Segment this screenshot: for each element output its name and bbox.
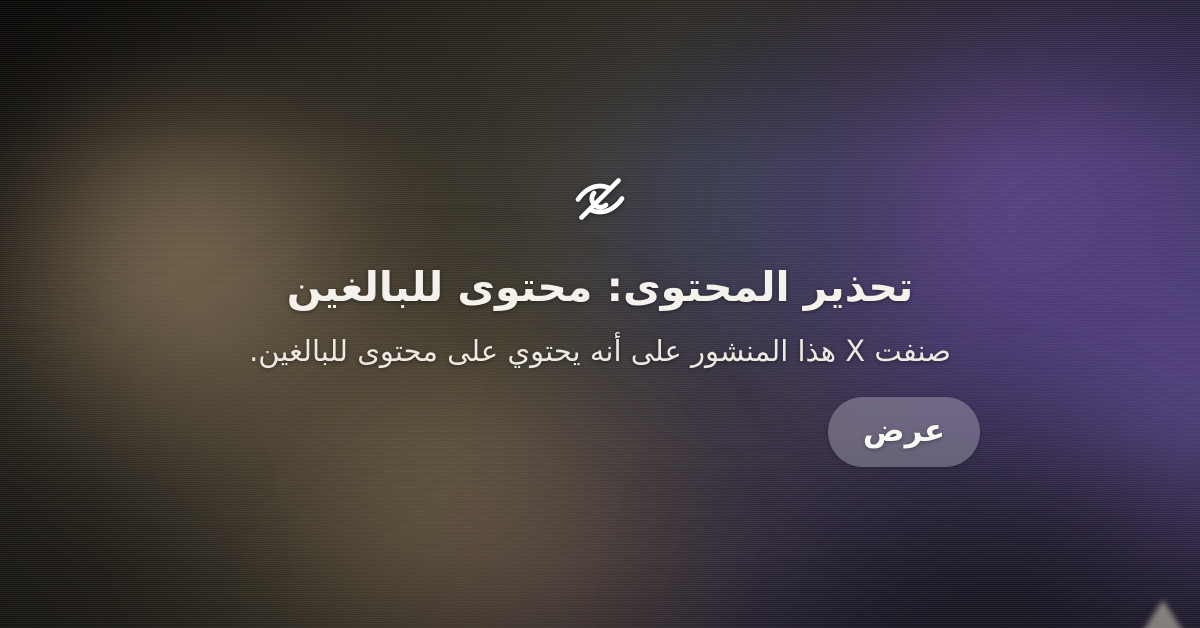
content-warning-description: صنفت X هذا المنشور على أنه يحتوي على محت… xyxy=(249,332,951,371)
content-warning-panel: تحذير المحتوى: محتوى للبالغين صنفت X هذا… xyxy=(0,0,1200,628)
content-warning-inner: تحذير المحتوى: محتوى للبالغين صنفت X هذا… xyxy=(220,169,980,467)
eye-off-icon xyxy=(570,169,630,229)
view-content-button[interactable]: عرض xyxy=(828,397,980,467)
content-warning-actions: عرض xyxy=(220,397,980,467)
content-warning-overlay-screen: تحذير المحتوى: محتوى للبالغين صنفت X هذا… xyxy=(0,0,1200,628)
content-warning-title: تحذير المحتوى: محتوى للبالغين xyxy=(287,263,914,311)
